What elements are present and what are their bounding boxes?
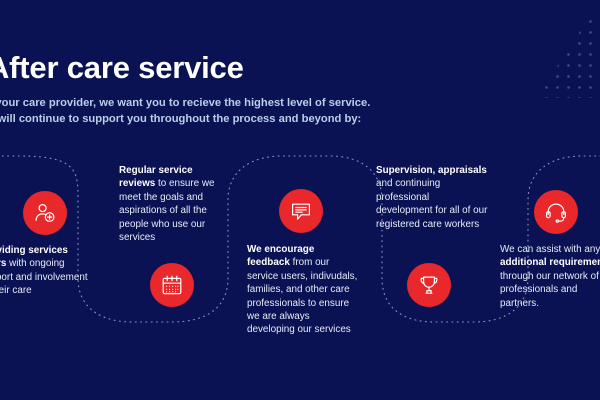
- step-rest-4: and continuing professional development …: [376, 178, 487, 229]
- step-text-regular-service-reviews: Regular service reviews to ensure we mee…: [119, 164, 229, 244]
- step-rest-3: from our service users, indivudals, fami…: [247, 257, 357, 335]
- step-text-supervision-appraisals: Supervision, appraisals and continuing p…: [376, 164, 488, 231]
- step-lead-4: Supervision, appraisals: [376, 165, 487, 176]
- step-text-we-encourage-feedback: We encourage feedback from our service u…: [247, 243, 359, 337]
- page-title: After care service: [0, 50, 244, 86]
- step-icon-trophy: [407, 263, 451, 307]
- step-lead-prefix-5: We can assist with any: [500, 244, 600, 255]
- step-icon-headset: [534, 190, 578, 234]
- step-icon-add-user: [23, 191, 67, 235]
- bottom-edge-bar: [0, 395, 600, 400]
- step-lead-5: additional requirements: [500, 257, 600, 268]
- step-icon-calendar: [150, 263, 194, 307]
- speech-bubble-icon: [289, 199, 313, 223]
- step-text-additional-requirements: We can assist with any additional requir…: [500, 243, 600, 310]
- step-rest-5: through our network of professionals and…: [500, 271, 599, 309]
- step-rest-1: with ongoing support and involvement in …: [0, 258, 88, 296]
- trophy-icon: [417, 273, 441, 297]
- headset-icon: [544, 200, 568, 224]
- page-subtitle: As your care provider, we want you to re…: [0, 96, 370, 127]
- step-icon-speech-bubble: [279, 189, 323, 233]
- dot-pattern-decoration: [464, 0, 600, 98]
- slide-canvas: After care service As your care provider…: [0, 0, 600, 400]
- calendar-icon: [160, 273, 184, 297]
- step-text-providing-services-users: Providing services users with ongoing su…: [0, 244, 92, 298]
- add-user-icon: [33, 201, 57, 225]
